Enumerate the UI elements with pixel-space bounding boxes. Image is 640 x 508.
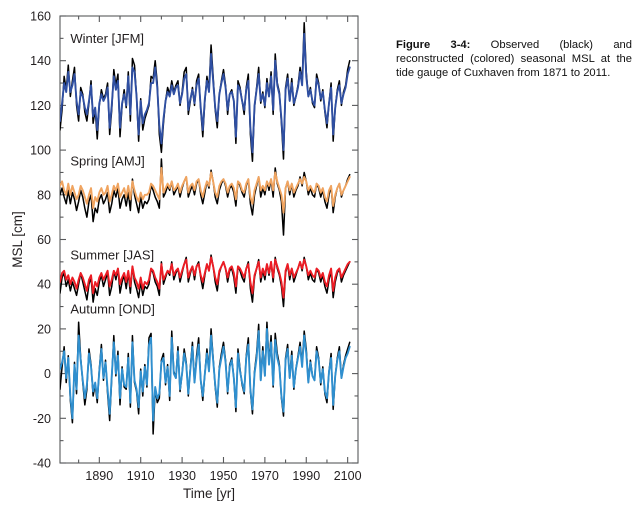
series-line-spring-reconstructed — [60, 168, 350, 213]
x-tick-label: 2100 — [334, 469, 362, 483]
y-tick-label: -20 — [33, 412, 51, 426]
figure-page: 1890191019301950197019902100 -40-2002040… — [0, 0, 640, 508]
y-tick-label: 80 — [37, 188, 51, 202]
figure-caption: Figure 3-4: Observed (black) and reconst… — [396, 38, 632, 81]
x-tick-label: 1990 — [292, 469, 320, 483]
series-annotation: Autumn [OND] — [70, 301, 155, 316]
series-line-winter-reconstructed — [60, 34, 350, 152]
y-tick-label: 0 — [44, 367, 51, 381]
x-tick-label: 1970 — [251, 469, 279, 483]
y-tick-label: 160 — [30, 10, 51, 24]
y-tick-label: 20 — [37, 322, 51, 336]
series-line-spring-observed — [60, 159, 350, 235]
caption-label: Figure 3-4: — [396, 39, 470, 51]
y-tick-label: 100 — [30, 144, 51, 158]
chart-figure: 1890191019301950197019902100 -40-2002040… — [0, 0, 380, 508]
x-tick-labels: 1890191019301950197019902100 — [85, 469, 361, 483]
series-line-summer-observed — [60, 255, 350, 306]
y-tick-label: 60 — [37, 233, 51, 247]
series-annotation: Winter [JFM] — [70, 31, 144, 46]
seasonal-msl-chart: 1890191019301950197019902100 -40-2002040… — [0, 0, 380, 508]
x-tick-label: 1950 — [210, 469, 238, 483]
x-axis-title: Time [yr] — [183, 486, 235, 501]
y-tick-label: 120 — [30, 99, 51, 113]
x-tick-label: 1930 — [168, 469, 196, 483]
y-tick-label: 140 — [30, 54, 51, 68]
y-tick-labels: -40-20020406080100120140160 — [30, 10, 51, 471]
series-annotation: Summer [JAS] — [70, 248, 154, 263]
x-tick-label: 1910 — [127, 469, 155, 483]
y-axis-title: MSL [cm] — [10, 211, 25, 268]
x-tick-label: 1890 — [85, 469, 113, 483]
data-series-group — [60, 23, 350, 434]
series-annotation: Spring [AMJ] — [70, 154, 144, 169]
y-tick-label: -40 — [33, 457, 51, 471]
y-tick-label: 40 — [37, 278, 51, 292]
